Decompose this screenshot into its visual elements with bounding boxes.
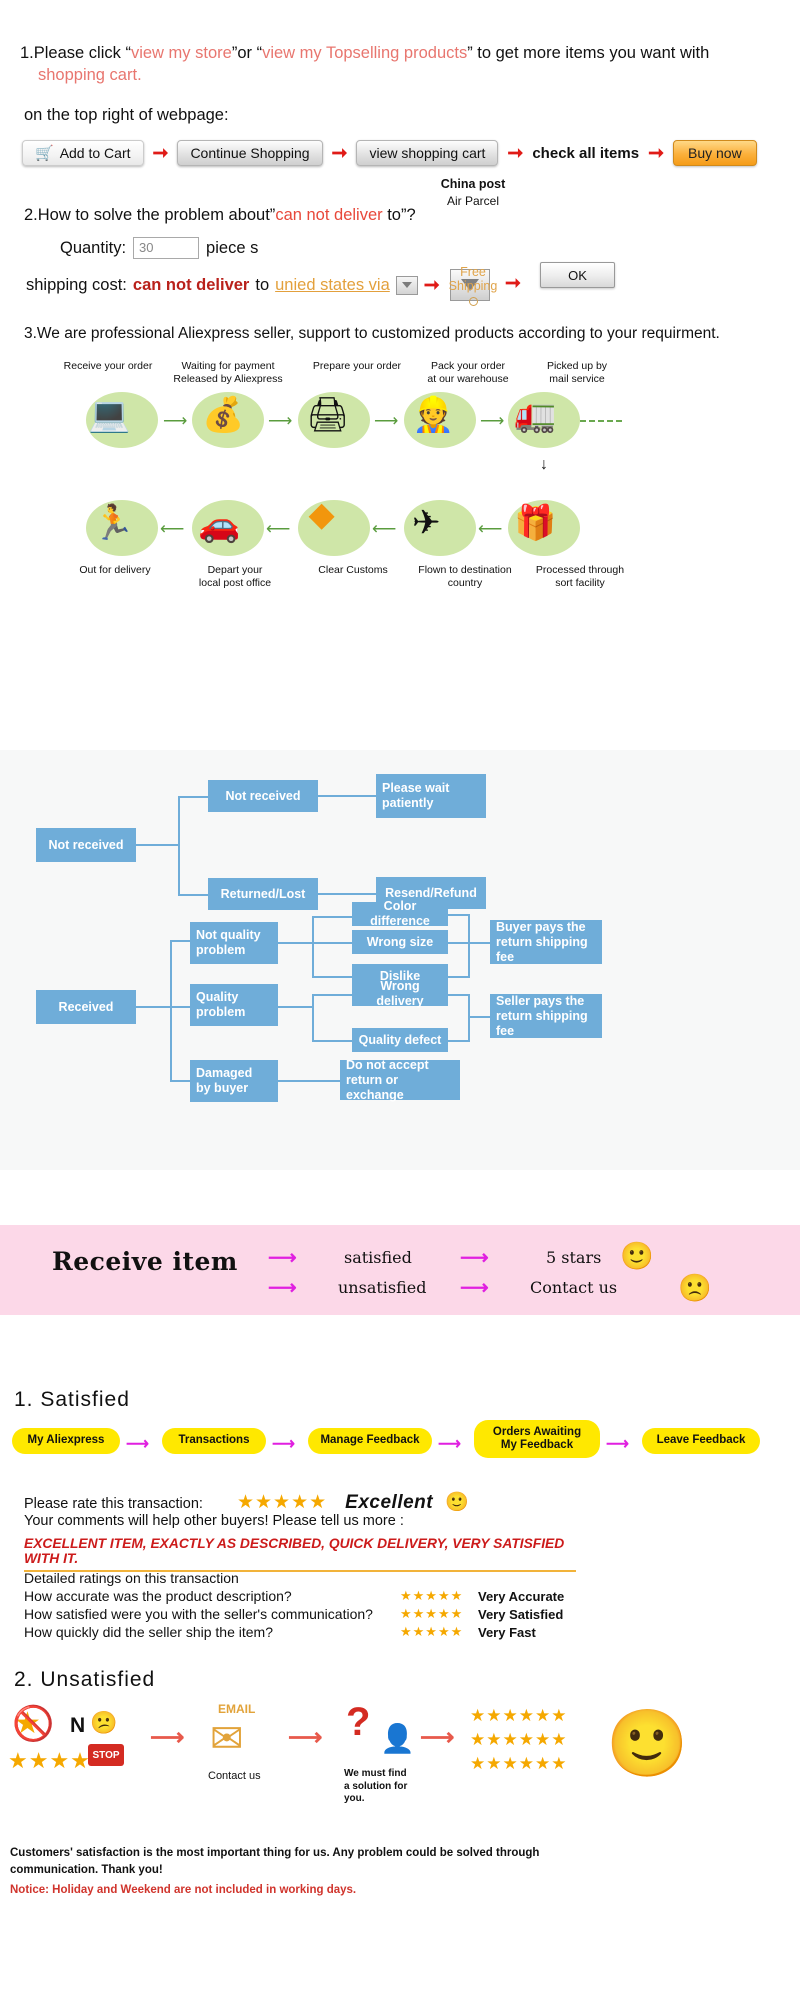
section-2-heading-suffix: to”?	[383, 206, 416, 224]
rate-transaction-label: Please rate this transaction:	[24, 1496, 203, 1512]
flow-node-color-difference: Color difference	[352, 902, 448, 926]
view-shopping-cart-label: view shopping cart	[369, 145, 485, 161]
detailed-ratings-heading: Detailed ratings on this transaction	[24, 1570, 239, 1586]
unsatisfied-label: unsatisfied	[338, 1278, 427, 1297]
smiley-sad-icon: 🙁	[678, 1272, 712, 1304]
connector	[318, 893, 376, 895]
detailed-label-2: Very Satisfied	[478, 1607, 563, 1622]
step-leave-feedback[interactable]: Leave Feedback	[642, 1428, 760, 1454]
connector	[170, 940, 172, 1082]
section-2-heading: 2.How to solve the problem about”can not…	[24, 206, 416, 225]
connector	[312, 942, 352, 944]
arrow-right-icon: ➞	[507, 144, 523, 163]
delivery-truck-icon: 🚛	[514, 398, 556, 432]
arrow-right-icon: ⟶	[420, 1726, 454, 1750]
buy-now-button[interactable]: Buy now	[673, 140, 757, 166]
postal-van-icon: 🚗	[198, 508, 240, 542]
flow-node-buyer-pays: Buyer pays thereturn shipping fee	[490, 920, 602, 964]
email-label: EMAIL	[218, 1702, 255, 1716]
review-text: EXCELLENT ITEM, EXACTLY AS DESCRIBED, QU…	[24, 1536, 576, 1572]
return-policy-flowchart: Not received Not received Returned/Lost …	[0, 750, 800, 1170]
rating-stars-grid-row2: ★★★★★★	[470, 1730, 567, 1750]
flow-node-nr-not-received: Not received	[208, 780, 318, 812]
arrow-right-icon: ⟶	[460, 1248, 489, 1268]
arrow-right-icon: ⟶	[150, 1726, 184, 1750]
arrow-left-icon: ⟵	[266, 520, 290, 537]
product-description-page: 1.Please click “view my store”or “view m…	[0, 0, 800, 2000]
arrow-right-icon: ➞	[648, 144, 664, 163]
satisfied-heading: 1. Satisfied	[14, 1388, 130, 1412]
detailed-label-1: Very Accurate	[478, 1589, 564, 1604]
five-stars-label: 5 stars	[546, 1248, 601, 1267]
parcel-sorting-icon: 🎁	[514, 506, 556, 540]
arrow-right-icon: ⟶	[268, 1278, 297, 1298]
solution-caption: We must finda solution foryou.	[344, 1768, 407, 1806]
customs-stamp-icon: ⯁	[308, 502, 335, 536]
worried-face-icon: 😕	[90, 1710, 117, 1736]
arrow-right-icon: ⟶	[268, 412, 292, 429]
free-shipping-line2: Shipping	[449, 279, 498, 293]
flow-node-no-return-exchange: Do not acceptreturn or exchange	[340, 1060, 460, 1100]
check-all-items-label: check all items	[532, 145, 639, 162]
stop-label: STOP	[92, 1750, 119, 1761]
shipping-flow-diagram: Receive your order Waiting for paymentRe…	[0, 360, 800, 610]
worker-boxes-icon: 👷	[412, 398, 454, 432]
arrow-right-icon: ⟶	[163, 412, 187, 429]
no-label: N	[70, 1714, 85, 1738]
connector	[448, 1040, 470, 1042]
airplane-icon: ✈	[412, 506, 441, 540]
stop-sign-icon: STOP	[88, 1744, 124, 1766]
unsatisfied-flow: ★ 🚫 ★★★★ N 😕 STOP ⟶ EMAIL ✉ Contact us ⟶…	[0, 1700, 800, 1820]
smiley-happy-icon: 🙂	[620, 1240, 654, 1272]
continue-shopping-button[interactable]: Continue Shopping	[177, 140, 322, 166]
flow-step-label-clear-customs: Clear Customs	[298, 564, 408, 577]
arrow-right-icon: ⟶	[606, 1437, 629, 1453]
connector	[312, 976, 352, 978]
footer-notice: Notice: Holiday and Weekend are not incl…	[10, 1884, 356, 1896]
connector	[468, 942, 490, 944]
connector	[136, 844, 180, 846]
checkout-button-row: 🛒 Add to Cart ➞ Continue Shopping ➞ view…	[22, 140, 757, 166]
detailed-question-1: How accurate was the product description…	[24, 1588, 292, 1604]
contact-us-caption: Contact us	[208, 1770, 261, 1782]
rate-transaction-row: Please rate this transaction: ★★★★★ Exce…	[24, 1490, 469, 1514]
flow-node-seller-pays: Seller pays thereturn shipping fee	[490, 994, 602, 1038]
prohibition-icon: 🚫	[12, 1704, 54, 1744]
ok-button[interactable]: OK	[540, 262, 615, 288]
quantity-row: Quantity: 30 piece s	[60, 237, 258, 259]
flow-node-quality-problem: Qualityproblem	[190, 984, 278, 1026]
link-view-topselling-products[interactable]: view my Topselling products	[262, 44, 467, 62]
arrow-right-icon: ⟶	[126, 1437, 149, 1453]
quantity-label: Quantity:	[60, 239, 126, 258]
flow-dashed-line	[580, 420, 622, 422]
smiley-happy-icon: 🙂	[606, 1710, 688, 1776]
comments-prompt: Your comments will help other buyers! Pl…	[24, 1513, 404, 1529]
question-mark-icon: ?	[346, 1700, 370, 1745]
rating-word: Excellent	[345, 1492, 433, 1513]
section-2-heading-prefix: 2.How to solve the problem about”	[24, 206, 275, 224]
free-shipping-line1: Free	[460, 265, 486, 279]
connector	[312, 994, 314, 1042]
rating-stars[interactable]: ★★★★★	[237, 1492, 327, 1513]
detailed-label-3: Very Fast	[478, 1625, 536, 1640]
arrow-right-icon: ⟶	[272, 1437, 295, 1453]
step-manage-feedback[interactable]: Manage Feedback	[308, 1428, 432, 1454]
arrow-left-icon: ⟵	[372, 520, 396, 537]
connector	[312, 916, 352, 918]
country-dropdown-toggle[interactable]	[396, 276, 418, 295]
add-to-cart-label: Add to Cart	[60, 145, 131, 161]
envelope-icon: ✉	[210, 1716, 244, 1762]
detailed-stars-3: ★★★★★	[400, 1625, 463, 1638]
flow-node-not-received: Not received	[36, 828, 136, 862]
flow-step-label-waiting-payment: Waiting for paymentReleased by Aliexpres…	[163, 360, 293, 386]
flow-step-label-flown-destination: Flown to destinationcountry	[405, 564, 525, 590]
connector	[136, 1006, 172, 1008]
footer-note: Customers' satisfaction is the most impo…	[10, 1845, 650, 1878]
connector	[468, 914, 470, 978]
flow-step-label-prepare-order: Prepare your order	[297, 360, 417, 373]
flow-step-label-sort-facility: Processed throughsort facility	[520, 564, 640, 590]
arrow-right-icon: ⟶	[480, 412, 504, 429]
running-courier-icon: 🏃	[92, 506, 134, 540]
step-my-aliexpress[interactable]: My Aliexpress	[12, 1428, 120, 1454]
air-parcel-label: Air Parcel	[418, 194, 528, 208]
flow-node-damaged-by-buyer: Damagedby buyer	[190, 1060, 278, 1102]
arrow-right-icon: ⟶	[374, 412, 398, 429]
shipping-cost-label: shipping cost:	[26, 276, 127, 295]
flow-node-wrong-delivery: Wrong delivery	[352, 982, 448, 1006]
arrow-right-icon: ➞	[153, 144, 169, 163]
connector	[178, 894, 208, 896]
connector	[448, 942, 470, 944]
flow-step-label-picked-up: Picked up bymail service	[527, 360, 627, 386]
connector	[312, 1040, 352, 1042]
connector	[278, 1080, 340, 1082]
satisfied-label: satisfied	[344, 1248, 412, 1267]
continue-shopping-label: Continue Shopping	[190, 145, 309, 161]
china-post-label: China post	[418, 177, 528, 191]
arrow-right-icon: ➞	[332, 144, 348, 163]
piece-label: piece s	[206, 239, 258, 258]
arrow-left-icon: ⟵	[160, 520, 184, 537]
instruction-suffix: ” to get more items you want with	[467, 44, 709, 62]
flow-step-label-out-for-delivery: Out for delivery	[55, 564, 175, 577]
contact-us-label: Contact us	[530, 1278, 617, 1297]
unsatisfied-heading: 2. Unsatisfied	[14, 1668, 155, 1692]
connector	[468, 1016, 490, 1018]
rating-stars-grid-row1: ★★★★★★	[470, 1706, 567, 1726]
person-at-computer-icon: 💻	[88, 398, 130, 432]
arrow-right-icon: ➞	[505, 272, 521, 295]
add-to-cart-button[interactable]: 🛒 Add to Cart	[22, 140, 144, 166]
flow-node-received: Received	[36, 990, 136, 1024]
flow-node-returned-lost: Returned/Lost	[208, 878, 318, 910]
flow-node-not-quality-problem: Not qualityproblem	[190, 922, 278, 964]
arrow-right-icon: ⟶	[268, 1248, 297, 1268]
instruction-mid: ”or “	[232, 44, 262, 62]
arrow-down-icon: ↓	[540, 456, 548, 474]
smiley-happy-icon: 🙂	[445, 1492, 469, 1513]
money-bag-icon: 💰	[202, 398, 244, 432]
instruction-line-1-wrap: shopping cart.	[38, 66, 142, 85]
connector	[448, 976, 470, 978]
footer-line-2: communication. Thank you!	[10, 1864, 163, 1876]
section-3-heading: 3.We are professional Aliexpress seller,…	[24, 325, 720, 343]
shipping-to-text: to	[255, 276, 269, 295]
cart-icon: 🛒	[35, 146, 54, 161]
step-orders-awaiting-feedback[interactable]: Orders AwaitingMy Feedback	[474, 1420, 600, 1458]
arrow-right-icon: ⟶	[438, 1437, 461, 1453]
detailed-question-3: How quickly did the seller ship the item…	[24, 1624, 273, 1640]
quantity-input[interactable]: 30	[133, 237, 199, 259]
arrow-right-icon: ⟶	[288, 1726, 322, 1750]
arrow-left-icon: ⟵	[478, 520, 502, 537]
detailed-stars-2: ★★★★★	[400, 1607, 463, 1620]
connector	[448, 994, 470, 996]
flow-step-label-receive-order: Receive your order	[48, 360, 168, 373]
country-select-value[interactable]: unied states via	[275, 276, 390, 295]
connector	[318, 795, 376, 797]
detailed-question-2: How satisfied were you with the seller's…	[24, 1606, 373, 1622]
flow-node-please-wait: Please waitpatiently	[376, 774, 486, 818]
view-shopping-cart-button[interactable]: view shopping cart	[356, 140, 498, 166]
detailed-stars-1: ★★★★★	[400, 1589, 463, 1602]
connector	[278, 942, 314, 944]
section-2-heading-red: can not deliver	[275, 206, 382, 224]
connector	[178, 796, 180, 896]
receive-item-title: Receive item	[52, 1247, 238, 1276]
connector	[448, 914, 470, 916]
arrow-right-icon: ⟶	[460, 1278, 489, 1298]
connector	[312, 916, 314, 978]
connector	[468, 994, 470, 1042]
flow-node-wrong-size: Wrong size	[352, 930, 448, 954]
rating-stars-low: ★★★★	[8, 1748, 91, 1774]
radio-button-icon[interactable]	[469, 297, 478, 306]
cannot-deliver-text: can not deliver	[133, 276, 249, 295]
step-transactions[interactable]: Transactions	[162, 1428, 266, 1454]
computer-printer-icon: 🖨	[306, 398, 349, 432]
link-view-my-store[interactable]: view my store	[131, 44, 232, 62]
person-icon: 👤	[380, 1722, 415, 1755]
flow-step-label-pack-order: Pack your orderat our warehouse	[413, 360, 523, 386]
instruction-prefix: 1.Please click “	[20, 44, 131, 62]
flow-node-quality-defect: Quality defect	[352, 1028, 448, 1052]
flow-step-label-depart-post-office: Depart yourlocal post office	[180, 564, 290, 590]
chevron-down-icon	[402, 282, 412, 288]
footer-line-1: Customers' satisfaction is the most impo…	[10, 1847, 539, 1859]
connector	[312, 994, 352, 996]
instruction-line-2: on the top right of webpage:	[24, 106, 229, 125]
connector	[278, 1006, 314, 1008]
instruction-line-1: 1.Please click “view my store”or “view m…	[20, 44, 709, 63]
rating-stars-grid-row3: ★★★★★★	[470, 1754, 567, 1774]
connector	[178, 796, 208, 798]
